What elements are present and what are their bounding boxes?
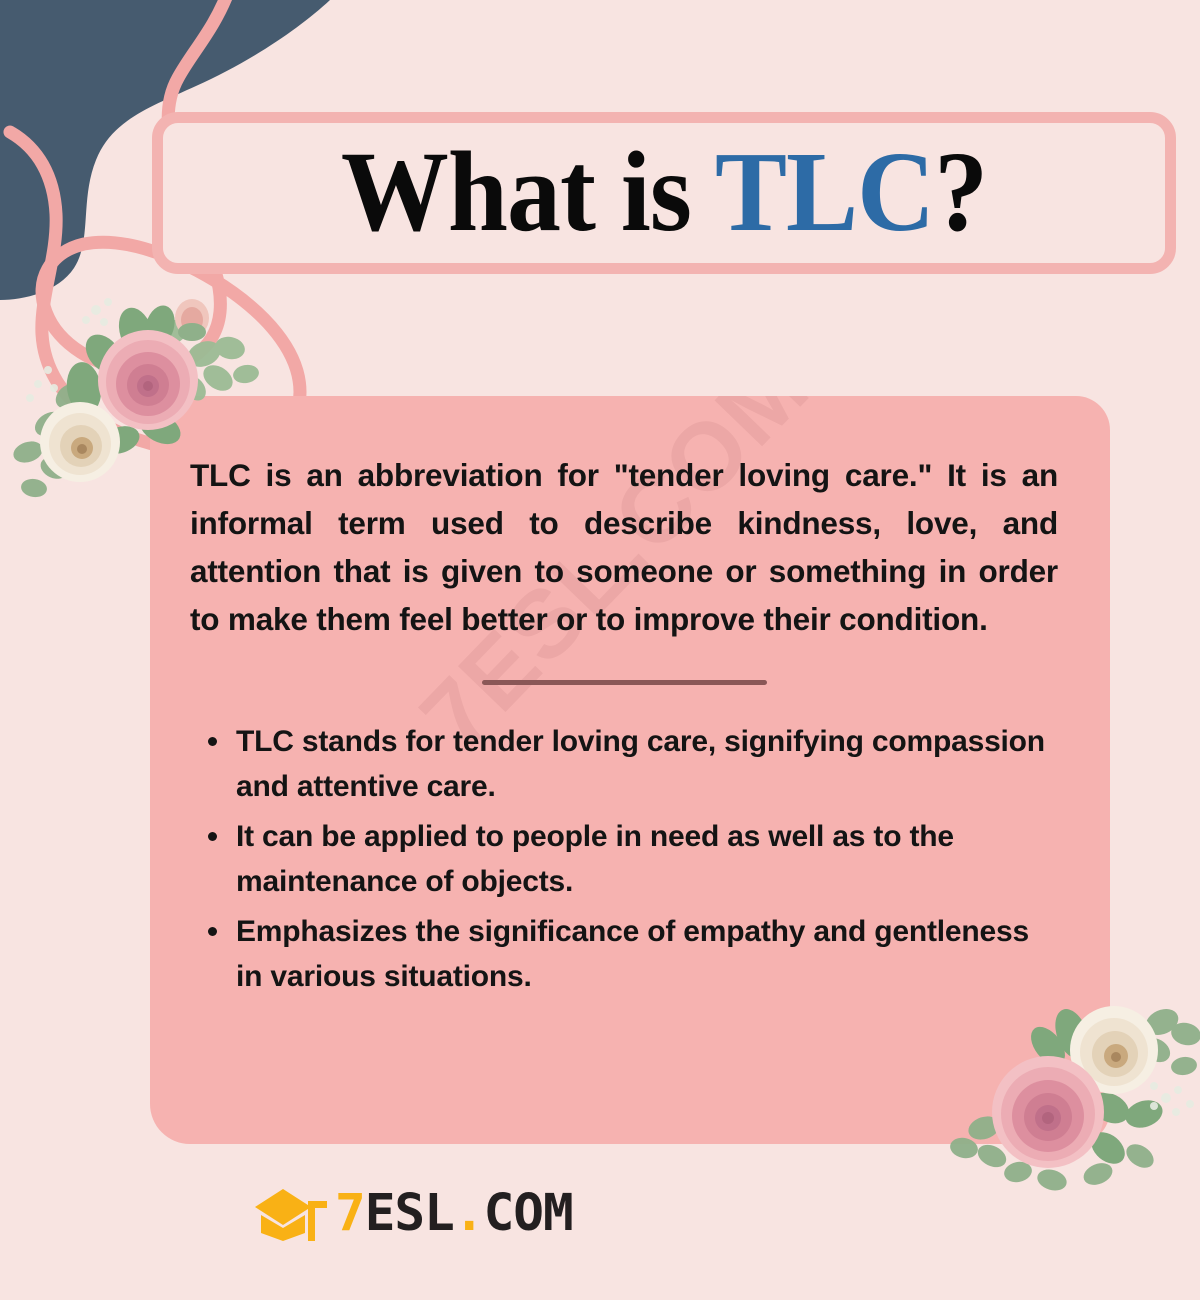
content-card: 7ESL.COM TLC is an abbreviation for "ten… xyxy=(150,396,1110,1144)
cap-tassel-stem xyxy=(308,1208,315,1241)
title-frame: What is TLC? xyxy=(152,112,1176,274)
site-logo[interactable]: 7ESL.COM xyxy=(253,1182,573,1244)
logo-wordmark: 7ESL.COM xyxy=(335,1188,573,1239)
section-divider xyxy=(482,680,767,685)
logo-com: COM xyxy=(484,1184,573,1243)
logo-dot: . xyxy=(454,1184,484,1243)
logo-esl: ESL xyxy=(365,1184,454,1243)
eucalyptus-sprigs-right xyxy=(155,314,260,405)
eucalyptus-sprigs-left xyxy=(11,379,85,499)
list-item: Emphasizes the significance of empathy a… xyxy=(200,909,1058,1000)
cap-tassel-arm xyxy=(308,1201,327,1208)
title-trail: ? xyxy=(934,129,987,255)
baby-breath-sprig xyxy=(26,298,112,402)
list-item: TLC stands for tender loving care, signi… xyxy=(200,719,1058,810)
rose-bud xyxy=(175,299,209,341)
page-title: What is TLC? xyxy=(341,136,987,250)
cream-rose xyxy=(40,402,120,482)
key-points-list: TLC stands for tender loving care, signi… xyxy=(190,719,1058,1001)
title-accent: TLC xyxy=(715,129,934,255)
definition-paragraph: TLC is an abbreviation for "tender lovin… xyxy=(190,452,1058,644)
card-inner: TLC is an abbreviation for "tender lovin… xyxy=(150,396,1110,1000)
logo-seven: 7 xyxy=(335,1184,365,1243)
title-lead: What is xyxy=(341,129,715,255)
list-item: It can be applied to people in need as w… xyxy=(200,814,1058,905)
graduation-cap-icon xyxy=(253,1185,327,1241)
baby-breath-sprig xyxy=(1150,1082,1194,1116)
